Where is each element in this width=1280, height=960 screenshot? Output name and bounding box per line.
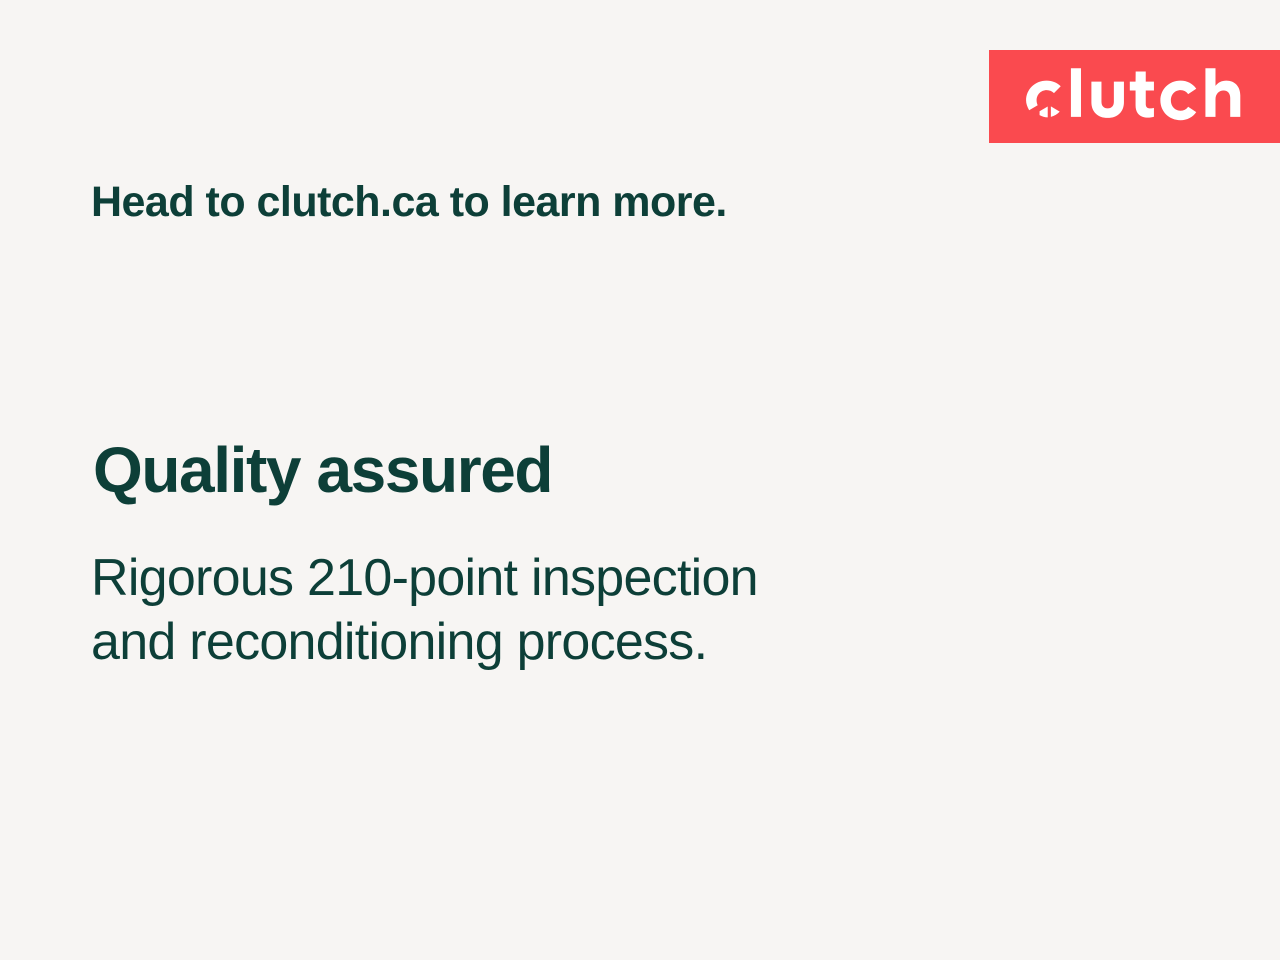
subcopy-line-2: and reconditioning process. xyxy=(91,610,758,674)
promo-slide: clutch xyxy=(0,0,1280,960)
subcopy-line-1: Rigorous 210-point inspection xyxy=(91,546,758,610)
clutch-logo[interactable]: clutch xyxy=(1015,66,1280,128)
clutch-wordmark-icon xyxy=(1015,66,1280,128)
eyebrow-text: Head to clutch.ca to learn more. xyxy=(91,178,727,227)
brand-banner: clutch xyxy=(989,50,1280,143)
page-title: Quality assured xyxy=(93,436,552,505)
subcopy-block: Rigorous 210-point inspection and recond… xyxy=(91,546,758,675)
